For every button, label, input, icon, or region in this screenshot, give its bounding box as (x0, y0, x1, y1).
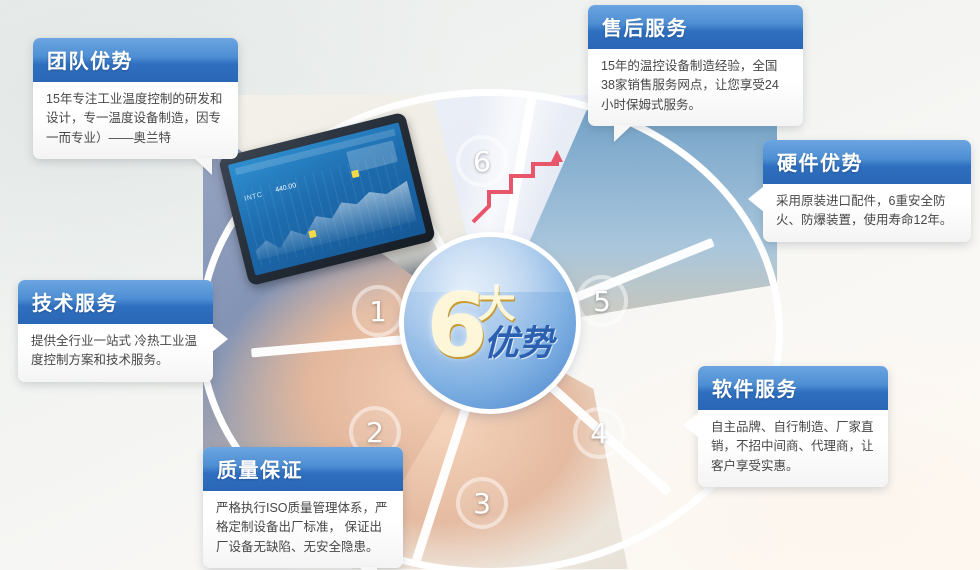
hub-word-da: 大 (478, 287, 516, 323)
card-quality-assurance[interactable]: 质量保证 严格执行ISO质量管理体系，严格定制设备出厂标准， 保证出厂设备无缺陷… (203, 447, 403, 568)
segment-number-5: 5 (576, 275, 628, 327)
callout-tail (614, 125, 632, 142)
center-hub: 6 大 优势 (404, 237, 576, 409)
card-after-sales-service[interactable]: 售后服务 15年的温控设备制造经验，全国38家销售服务网点，让您享受24小时保姆… (588, 5, 803, 126)
card-title: 售后服务 (588, 5, 803, 49)
segment-number-4: 4 (573, 407, 625, 459)
callout-tail (194, 158, 212, 175)
card-title: 技术服务 (18, 280, 213, 324)
segment-number-3: 3 (456, 477, 508, 529)
segment-number-1: 1 (352, 285, 404, 337)
card-title: 硬件优势 (763, 140, 971, 184)
card-title: 软件服务 (698, 366, 888, 410)
card-body: 采用原装进口配件，6重安全防火、防爆装置，使用寿命12年。 (763, 184, 971, 242)
card-body: 严格执行ISO质量管理体系，严格定制设备出厂标准， 保证出厂设备无缺陷、无安全隐… (203, 491, 403, 568)
infographic-canvas: INTC 440.00 1 2 3 4 5 6 6 大 (0, 0, 980, 570)
card-title: 质量保证 (203, 447, 403, 491)
card-body: 自主品牌、自行制造、厂家直销，不招中间商、代理商，让客户享受实惠。 (698, 410, 888, 487)
card-body: 15年的温控设备制造经验，全国38家销售服务网点，让您享受24小时保姆式服务。 (588, 49, 803, 126)
card-body: 提供全行业一站式 冷热工业温度控制方案和技术服务。 (18, 324, 213, 382)
card-team-advantage[interactable]: 团队优势 15年专注工业温度控制的研发和设计，专一温度设备制造，因专一而专业）—… (33, 38, 238, 159)
segment-number-6: 6 (456, 135, 508, 187)
hub-word-youshi: 优势 (484, 326, 554, 361)
card-body: 15年专注工业温度控制的研发和设计，专一温度设备制造，因专一而专业）——奥兰特 (33, 82, 238, 159)
card-software-service[interactable]: 软件服务 自主品牌、自行制造、厂家直销，不招中间商、代理商，让客户享受实惠。 (698, 366, 888, 487)
card-title: 团队优势 (33, 38, 238, 82)
card-technical-service[interactable]: 技术服务 提供全行业一站式 冷热工业温度控制方案和技术服务。 (18, 280, 213, 382)
callout-tail (748, 186, 764, 212)
card-hardware-advantage[interactable]: 硬件优势 采用原装进口配件，6重安全防火、防爆装置，使用寿命12年。 (763, 140, 971, 242)
callout-tail (683, 412, 699, 438)
callout-tail (212, 326, 228, 352)
